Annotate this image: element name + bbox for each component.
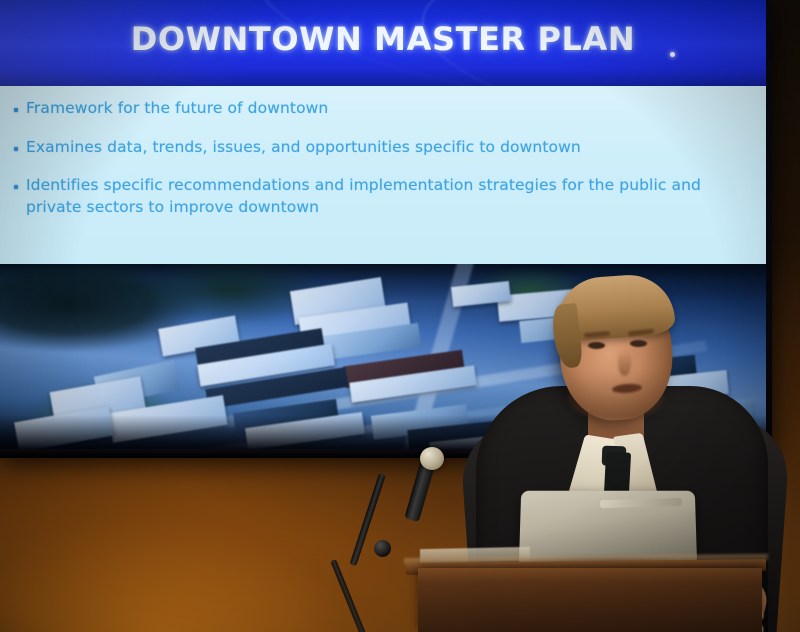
- speaker-nose: [618, 350, 631, 376]
- speaker-eye: [588, 342, 605, 349]
- slide-title-band: DOWNTOWN MASTER PLAN: [0, 0, 766, 86]
- slide-title: DOWNTOWN MASTER PLAN: [0, 20, 766, 58]
- microphone-joint: [374, 540, 391, 557]
- bullet-marker-icon: [14, 185, 18, 189]
- microphone-head-icon: [420, 447, 444, 470]
- slide-bullet-text: Identifies specific recommendations and …: [26, 175, 748, 218]
- presentation-room-photo: DOWNTOWN MASTER PLAN Framework for the f…: [0, 0, 800, 632]
- slide-bullet-item: Framework for the future of downtown: [14, 98, 748, 120]
- slide-bullet-item: Identifies specific recommendations and …: [14, 175, 748, 218]
- slide-body: Framework for the future of downtown Exa…: [0, 86, 766, 264]
- slide-bullet-text: Examines data, trends, issues, and oppor…: [26, 137, 581, 159]
- slide-bullet-text: Framework for the future of downtown: [26, 98, 328, 120]
- slide-bullet-item: Examines data, trends, issues, and oppor…: [14, 137, 748, 159]
- bullet-marker-icon: [14, 108, 18, 112]
- bullet-marker-icon: [14, 147, 18, 151]
- speaker-jaw-shadow: [568, 372, 664, 420]
- podium: [418, 568, 762, 632]
- speaker-eye: [630, 340, 647, 347]
- slide-bullet-list: Framework for the future of downtown Exa…: [14, 98, 748, 236]
